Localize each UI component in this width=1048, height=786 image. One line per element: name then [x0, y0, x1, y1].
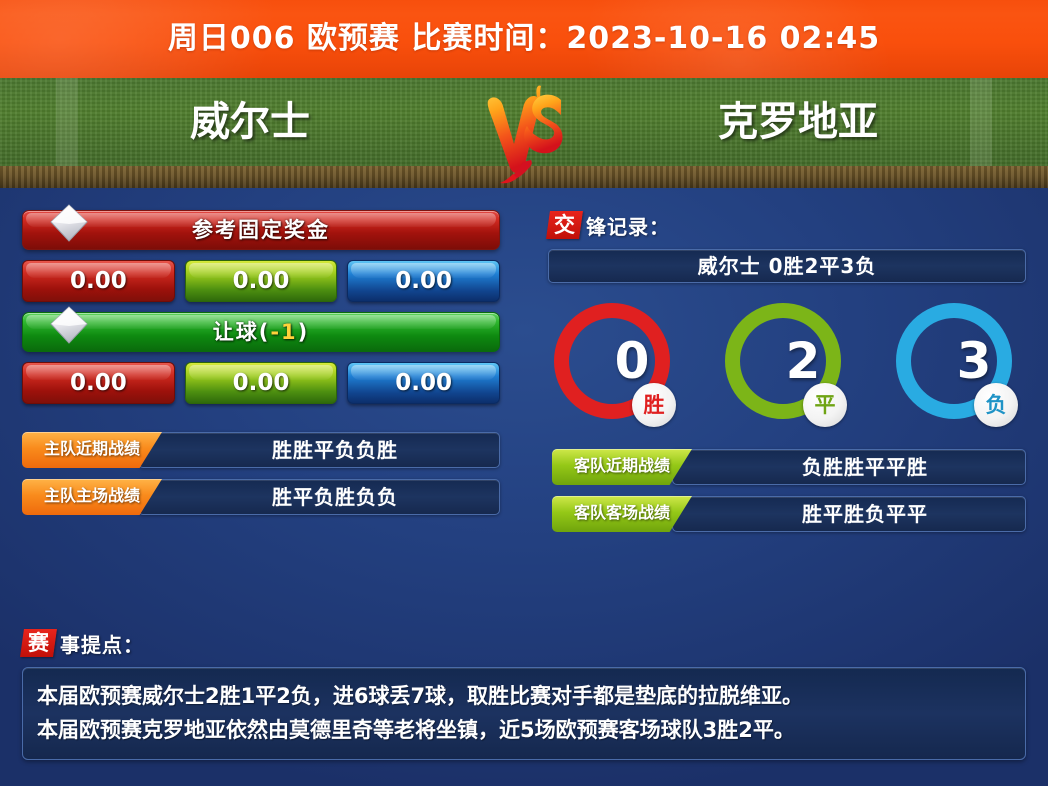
handicap-value: -1 [270, 320, 297, 344]
vs-flame-icon [469, 82, 579, 186]
h2h-heading: 交 锋记录： [548, 210, 1026, 240]
handicap-odd-win[interactable]: 0.00 [22, 362, 175, 404]
odds-column: 参考固定奖金 0.00 0.00 0.00 让球(-1) 0.00 0.00 [22, 210, 500, 526]
h2h-ring-lose: 3 负 [896, 303, 1020, 427]
notes-badge-icon: 赛 [20, 629, 57, 657]
away-venue-form-tag: 客队客场战绩 [552, 496, 692, 532]
h2h-heading-text: 锋记录： [586, 211, 670, 240]
notes-heading-text: 事提点： [60, 629, 144, 658]
h2h-lose-label: 负 [974, 383, 1018, 427]
fixed-bonus-bar: 参考固定奖金 [22, 210, 500, 250]
handicap-odd-lose[interactable]: 0.00 [347, 362, 500, 404]
away-team-name: 克罗地亚 [608, 92, 988, 152]
fixed-odd-draw[interactable]: 0.00 [185, 260, 338, 302]
h2h-win-label: 胜 [632, 383, 676, 427]
h2h-draw-label: 平 [803, 383, 847, 427]
away-venue-form-row: 客队客场战绩 胜平胜负平平 [548, 496, 1026, 532]
page-title: 周日006 欧预赛 比赛时间：2023-10-16 02:45 [0, 0, 1048, 78]
notes-panel: 本届欧预赛威尔士2胜1平2负，进6球丢7球，取胜比赛对手都是垫底的拉脱维亚。 本… [22, 667, 1026, 760]
h2h-badge-char: 交 [554, 211, 575, 239]
home-venue-form-tag: 主队主场战绩 [22, 479, 162, 515]
diamond-icon [49, 203, 89, 243]
note-line: 本届欧预赛克罗地亚依然由莫德里奇等老将坐镇，近5场欧预赛客场球队3胜2平。 [37, 713, 1011, 747]
h2h-summary: 威尔士 0胜2平3负 [548, 249, 1026, 283]
home-venue-form-value: 胜平负胜负负 [138, 479, 500, 515]
body-area: 参考固定奖金 0.00 0.00 0.00 让球(-1) 0.00 0.00 [0, 188, 1048, 786]
notes-heading: 赛 事提点： [22, 628, 1026, 658]
header-band: 周日006 欧预赛 比赛时间：2023-10-16 02:45 [0, 0, 1048, 78]
home-recent-form-tag: 主队近期战绩 [22, 432, 162, 468]
home-venue-form-row: 主队主场战绩 胜平负胜负负 [22, 479, 500, 515]
fixed-bonus-odds-row: 0.00 0.00 0.00 [22, 260, 500, 302]
notes-block: 赛 事提点： 本届欧预赛威尔士2胜1平2负，进6球丢7球，取胜比赛对手都是垫底的… [22, 628, 1026, 760]
handicap-title: 让球(-1) [23, 313, 499, 351]
handicap-odd-draw[interactable]: 0.00 [185, 362, 338, 404]
away-venue-form-value: 胜平胜负平平 [672, 496, 1026, 532]
teams-band: 威尔士 克罗地亚 [0, 78, 1048, 188]
away-recent-form-row: 客队近期战绩 负胜胜平平胜 [548, 449, 1026, 485]
fixed-odd-win[interactable]: 0.00 [22, 260, 175, 302]
away-recent-form-value: 负胜胜平平胜 [672, 449, 1026, 485]
away-recent-form-tag: 客队近期战绩 [552, 449, 692, 485]
handicap-title-suffix: ) [298, 320, 310, 344]
home-team-name: 威尔士 [60, 92, 440, 152]
home-recent-form-row: 主队近期战绩 胜胜平负负胜 [22, 432, 500, 468]
notes-badge-char: 赛 [28, 629, 49, 657]
handicap-odds-row: 0.00 0.00 0.00 [22, 362, 500, 404]
h2h-column: 交 锋记录： 威尔士 0胜2平3负 0 胜 2 平 3 负 [548, 210, 1026, 543]
note-line: 本届欧预赛威尔士2胜1平2负，进6球丢7球，取胜比赛对手都是垫底的拉脱维亚。 [37, 679, 1011, 713]
fixed-odd-lose[interactable]: 0.00 [347, 260, 500, 302]
h2h-ring-win: 0 胜 [554, 303, 678, 427]
h2h-ring-draw: 2 平 [725, 303, 849, 427]
h2h-rings: 0 胜 2 平 3 负 [548, 303, 1026, 427]
match-preview-page: 周日006 欧预赛 比赛时间：2023-10-16 02:45 威尔士 克罗地亚 [0, 0, 1048, 786]
handicap-title-prefix: 让球( [213, 320, 271, 344]
h2h-badge-icon: 交 [546, 211, 583, 239]
home-recent-form-value: 胜胜平负负胜 [138, 432, 500, 468]
diamond-icon [49, 305, 89, 345]
handicap-bar: 让球(-1) [22, 312, 500, 352]
fixed-bonus-title: 参考固定奖金 [23, 211, 499, 249]
